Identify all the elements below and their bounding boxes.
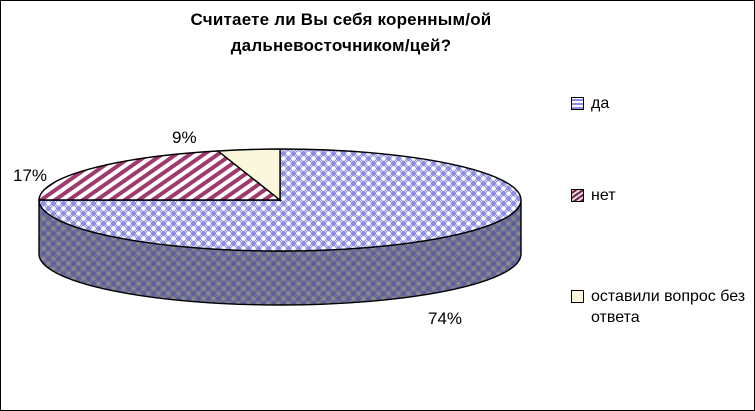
legend-item-nores[interactable]: оставили вопрос без ответа [571,286,754,328]
chart-legend: да нет оставили вопрос без ответа [567,1,754,410]
legend-item-da[interactable]: да [571,93,609,114]
pie-label-nores: 9% [172,128,197,148]
pie-label-net: 17% [13,166,47,186]
chart-frame: Считаете ли Вы себя коренным/ой дальнево… [0,0,755,411]
legend-label-da: да [591,93,609,114]
legend-label-net: нет [591,185,616,206]
pie-chart-svg [1,1,561,410]
pie-plot-area: 9% 17% 74% [1,1,561,410]
legend-swatch-net-icon [571,189,584,202]
pie-top-face [39,149,521,251]
legend-swatch-da-icon [571,97,584,110]
legend-item-net[interactable]: нет [571,185,616,206]
legend-label-nores: оставили вопрос без ответа [591,286,754,328]
pie-label-da: 74% [428,309,462,329]
legend-swatch-nores-icon [571,290,584,303]
